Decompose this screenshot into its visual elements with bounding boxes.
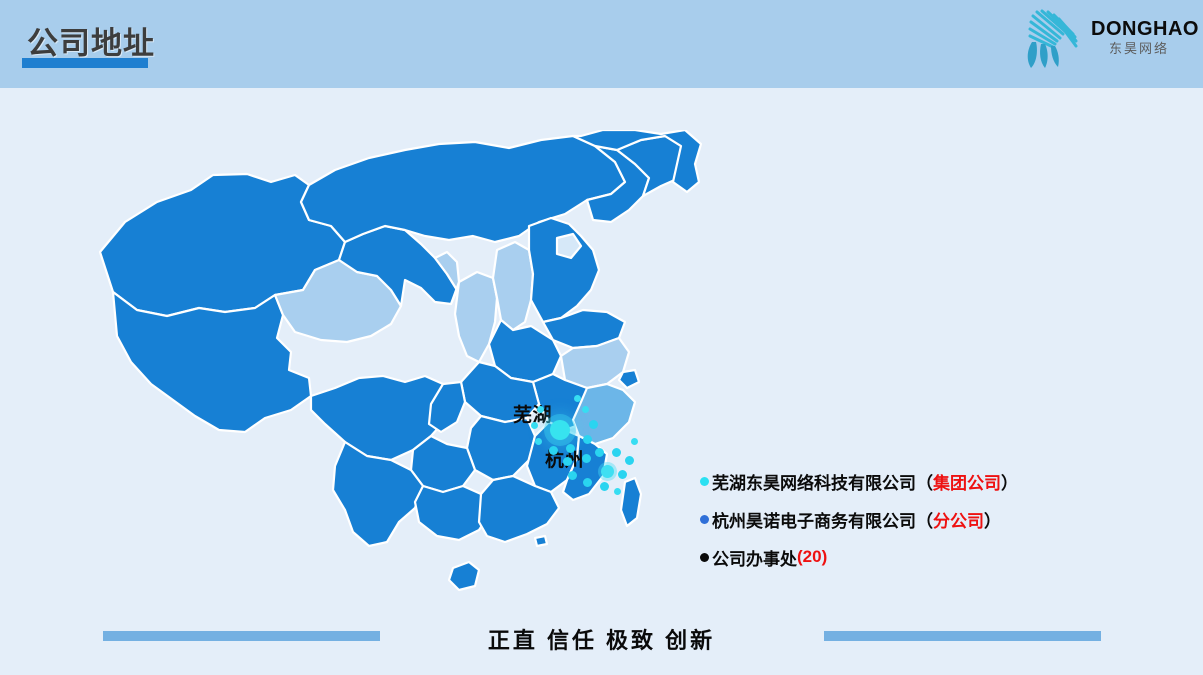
logo-wordmark: DONGHAO 东昊网络 <box>1091 18 1187 57</box>
legend-label: 芜湖东昊网络科技有限公司 <box>712 469 916 494</box>
marker-office[interactable] <box>566 444 575 453</box>
marker-office[interactable] <box>563 457 572 466</box>
page-title: 公司地址 <box>27 18 155 63</box>
province-hebei <box>529 218 599 322</box>
legend-bullet-icon <box>700 553 709 562</box>
marker-office[interactable] <box>618 470 627 479</box>
marker-office[interactable] <box>549 446 558 455</box>
marker-office[interactable] <box>625 456 634 465</box>
province-taiwan <box>621 478 641 526</box>
page-header: 公司地址 <box>0 0 1203 88</box>
marker-office[interactable] <box>614 488 621 495</box>
marker-office[interactable] <box>612 448 621 457</box>
legend-open-paren: （ <box>916 507 933 532</box>
feather-wing-logo-icon <box>1019 8 1089 72</box>
legend-item-group-company[interactable]: 芜湖东昊网络科技有限公司 （ 集团公司 ） <box>700 462 1130 500</box>
logo-english-name: DONGHAO <box>1091 18 1187 40</box>
marker-office[interactable] <box>582 454 591 463</box>
company-logo: DONGHAO 东昊网络 <box>1019 8 1189 74</box>
marker-branch-hangzhou[interactable] <box>601 465 614 478</box>
marker-office[interactable] <box>583 478 592 487</box>
legend: 芜湖东昊网络科技有限公司 （ 集团公司 ） 杭州昊诺电子商务有限公司 （ 分公司… <box>700 462 1130 576</box>
footer-slogan: 正直 信任 极致 创新 <box>0 623 1203 655</box>
marker-office[interactable] <box>537 406 544 413</box>
legend-note: 分公司 <box>933 507 984 532</box>
legend-bullet-icon <box>700 515 709 524</box>
marker-office[interactable] <box>535 438 542 445</box>
legend-item-branch-company[interactable]: 杭州昊诺电子商务有限公司 （ 分公司 ） <box>700 500 1130 538</box>
china-map-svg <box>95 130 715 610</box>
legend-bullet-icon <box>700 477 709 486</box>
province-shanxi <box>493 242 533 330</box>
legend-label: 公司办事处 <box>712 545 797 570</box>
province-hainan <box>449 562 479 590</box>
legend-note: (20) <box>797 547 827 567</box>
province-yunnan <box>333 442 423 546</box>
marker-office[interactable] <box>582 406 589 413</box>
province-shanghai <box>619 370 639 388</box>
marker-office[interactable] <box>595 448 604 457</box>
marker-office[interactable] <box>631 438 638 445</box>
legend-label: 杭州昊诺电子商务有限公司 <box>712 507 916 532</box>
marker-office[interactable] <box>583 435 592 444</box>
legend-open-paren: （ <box>916 469 933 494</box>
legend-close-paren: ） <box>1001 469 1018 494</box>
china-map: 芜湖 杭州 <box>95 130 715 610</box>
marker-office[interactable] <box>589 420 598 429</box>
marker-office[interactable] <box>600 482 609 491</box>
title-underline <box>22 58 148 68</box>
marker-office[interactable] <box>574 395 581 402</box>
marker-office[interactable] <box>531 422 538 429</box>
legend-item-offices[interactable]: 公司办事处 (20) <box>700 538 1130 576</box>
marker-office[interactable] <box>568 471 577 480</box>
marker-headquarters-wuhu[interactable] <box>550 420 570 440</box>
province-hongkong <box>535 536 547 546</box>
legend-note: 集团公司 <box>933 469 1001 494</box>
legend-close-paren: ） <box>984 507 1001 532</box>
logo-chinese-name: 东昊网络 <box>1091 41 1187 57</box>
province-inner-mongolia <box>301 136 625 242</box>
